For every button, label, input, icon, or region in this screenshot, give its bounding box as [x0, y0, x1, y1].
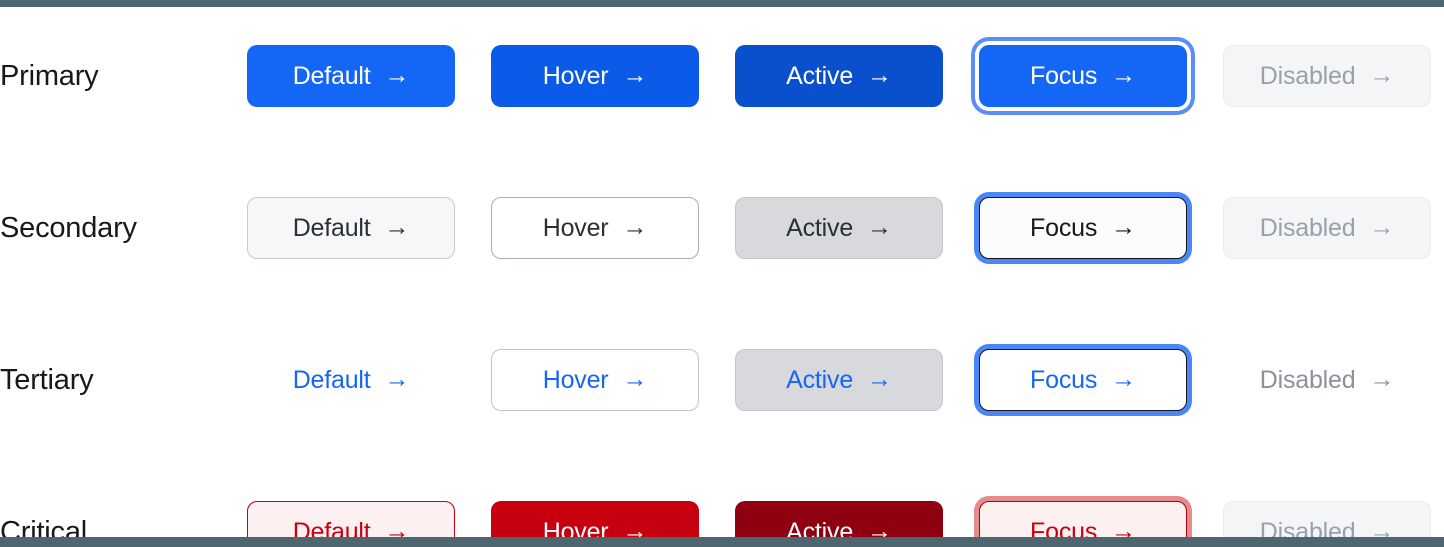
button-row-tertiary: Tertiary Default → Hover → Active — [0, 304, 1444, 456]
button-secondary-active[interactable]: Active → — [735, 197, 943, 259]
cell-primary-focus: Focus → — [979, 26, 1223, 126]
button-tertiary-active[interactable]: Active → — [735, 349, 943, 411]
button-tertiary-default[interactable]: Default → — [247, 349, 455, 411]
button-label: Active — [786, 216, 853, 241]
cell-tertiary-disabled: Disabled → — [1223, 330, 1444, 430]
cell-secondary-disabled: Disabled → — [1223, 178, 1444, 278]
row-cells-tertiary: Default → Hover → Active → — [247, 330, 1444, 430]
button-label: Hover — [543, 216, 609, 241]
button-label: Active — [786, 64, 853, 89]
cell-tertiary-focus: Focus → — [979, 330, 1223, 430]
cell-primary-hover: Hover → — [491, 26, 735, 126]
button-primary-hover[interactable]: Hover → — [491, 45, 699, 107]
row-label-tertiary: Tertiary — [0, 366, 247, 395]
bottom-frame-bar — [0, 537, 1444, 547]
arrow-right-icon: → — [622, 63, 647, 88]
button-label: Disabled — [1260, 368, 1356, 393]
button-label: Default — [293, 368, 371, 393]
cell-tertiary-default: Default → — [247, 330, 491, 430]
button-label: Default — [293, 216, 371, 241]
button-row-primary: Primary Default → Hover → Active — [0, 0, 1444, 152]
button-label: Hover — [543, 368, 609, 393]
button-label: Focus — [1030, 216, 1097, 241]
button-secondary-focus[interactable]: Focus → — [979, 197, 1187, 259]
cell-secondary-active: Active → — [735, 178, 979, 278]
button-label: Active — [786, 368, 853, 393]
button-tertiary-hover[interactable]: Hover → — [491, 349, 699, 411]
cell-primary-default: Default → — [247, 26, 491, 126]
cell-secondary-focus: Focus → — [979, 178, 1223, 278]
button-secondary-default[interactable]: Default → — [247, 197, 455, 259]
button-row-secondary: Secondary Default → Hover → Activ — [0, 152, 1444, 304]
button-grid: Primary Default → Hover → Active — [0, 7, 1444, 537]
row-cells-secondary: Default → Hover → Active → — [247, 178, 1444, 278]
button-primary-disabled: Disabled → — [1223, 45, 1431, 107]
button-label: Hover — [543, 64, 609, 89]
button-label: Focus — [1030, 368, 1097, 393]
button-primary-default[interactable]: Default → — [247, 45, 455, 107]
button-label: Disabled — [1260, 216, 1356, 241]
cell-primary-disabled: Disabled → — [1223, 26, 1444, 126]
button-primary-focus[interactable]: Focus → — [979, 45, 1187, 107]
arrow-right-icon: → — [1111, 63, 1136, 88]
arrow-right-icon: → — [867, 367, 892, 392]
button-secondary-disabled: Disabled → — [1223, 197, 1431, 259]
arrow-right-icon: → — [1369, 367, 1394, 392]
cell-secondary-hover: Hover → — [491, 178, 735, 278]
cell-tertiary-active: Active → — [735, 330, 979, 430]
row-label-primary: Primary — [0, 62, 247, 91]
arrow-right-icon: → — [1369, 63, 1394, 88]
arrow-right-icon: → — [867, 215, 892, 240]
button-states-matrix: Primary Default → Hover → Active — [0, 0, 1444, 547]
arrow-right-icon: → — [1369, 215, 1394, 240]
row-label-secondary: Secondary — [0, 214, 247, 243]
arrow-right-icon: → — [1111, 215, 1136, 240]
button-primary-active[interactable]: Active → — [735, 45, 943, 107]
cell-secondary-default: Default → — [247, 178, 491, 278]
arrow-right-icon: → — [867, 63, 892, 88]
button-row-critical: Critical Default → Hover → Active — [0, 456, 1444, 547]
arrow-right-icon: → — [385, 215, 410, 240]
cell-primary-active: Active → — [735, 26, 979, 126]
row-cells-primary: Default → Hover → Active → — [247, 26, 1444, 126]
button-label: Disabled — [1260, 64, 1356, 89]
button-secondary-hover[interactable]: Hover → — [491, 197, 699, 259]
button-label: Default — [293, 64, 371, 89]
arrow-right-icon: → — [385, 63, 410, 88]
button-tertiary-focus[interactable]: Focus → — [979, 349, 1187, 411]
arrow-right-icon: → — [1111, 367, 1136, 392]
button-label: Focus — [1030, 64, 1097, 89]
button-tertiary-disabled: Disabled → — [1223, 349, 1431, 411]
arrow-right-icon: → — [622, 367, 647, 392]
cell-tertiary-hover: Hover → — [491, 330, 735, 430]
arrow-right-icon: → — [622, 215, 647, 240]
arrow-right-icon: → — [385, 367, 410, 392]
